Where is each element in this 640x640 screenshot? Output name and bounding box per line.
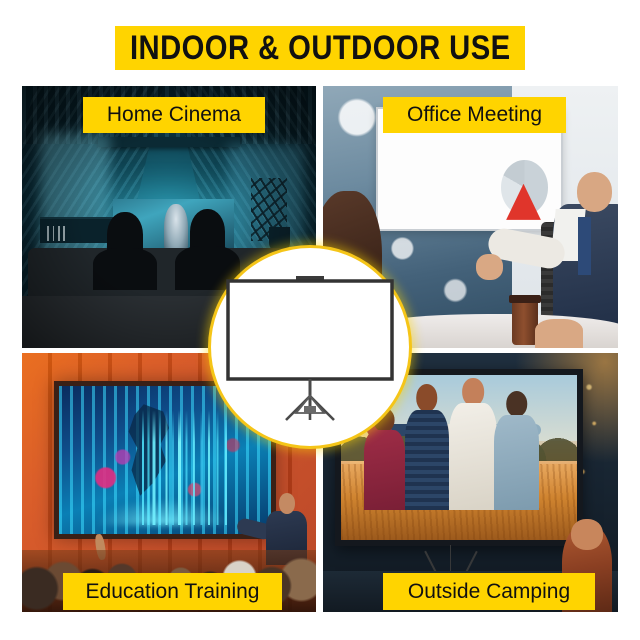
person-body (494, 415, 539, 510)
label-outside-camping: Outside Camping (383, 573, 595, 610)
title-banner: INDOOR & OUTDOOR USE (115, 26, 525, 70)
presenter-head (577, 172, 612, 211)
presenter-tie (578, 217, 591, 275)
on-screen-person (449, 378, 496, 511)
presenter-head (279, 493, 295, 514)
person-body (449, 403, 496, 510)
label-text: Office Meeting (407, 103, 542, 127)
label-home-cinema: Home Cinema (83, 97, 265, 133)
coffee-cup (512, 301, 539, 346)
label-text: Outside Camping (408, 580, 570, 604)
label-education-training: Education Training (63, 573, 282, 610)
foreground-viewer-head (571, 519, 603, 550)
person-head (506, 391, 528, 417)
page-title: INDOOR & OUTDOOR USE (130, 31, 511, 65)
person-head (416, 384, 438, 412)
resting-hand (535, 319, 582, 348)
label-office-meeting: Office Meeting (383, 97, 566, 133)
label-text: Home Cinema (107, 103, 241, 127)
product-feature-collage: INDOOR & OUTDOOR USE (0, 0, 640, 640)
person-body (364, 430, 404, 510)
on-screen-person (494, 391, 539, 510)
pointing-hand (476, 254, 503, 280)
person-head (462, 378, 484, 406)
on-screen-person (405, 384, 450, 510)
coffee-cup-lid (509, 295, 541, 304)
label-text: Education Training (86, 580, 260, 604)
person-body (405, 410, 450, 511)
on-screen-glow (97, 499, 228, 526)
tripod-projector-screen-icon (222, 272, 398, 422)
product-badge (208, 245, 412, 449)
